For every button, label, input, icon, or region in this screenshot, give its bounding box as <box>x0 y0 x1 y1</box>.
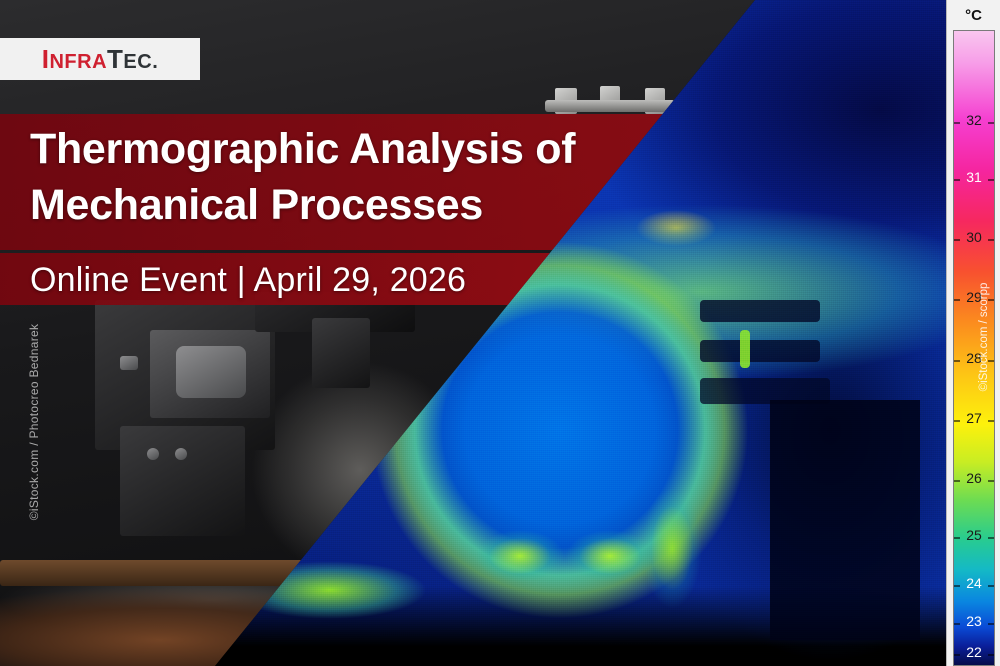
photo-bolt <box>175 448 187 460</box>
thermal-coil-band <box>700 300 820 322</box>
logo-ec: EC. <box>123 51 158 73</box>
photo-cover-plate <box>176 346 246 398</box>
tick-label: 30 <box>954 229 994 245</box>
thermal-cold-mass <box>770 400 920 640</box>
scale-bar-wrap: 3231302928272625242322 ©iStock.com / sco… <box>953 30 995 666</box>
tick-label: 26 <box>954 470 994 486</box>
tick-label: 25 <box>954 527 994 543</box>
tick-label: 27 <box>954 410 994 426</box>
photo-connector <box>120 356 138 370</box>
tick-label: 29 <box>954 289 994 305</box>
thermal-coil-band <box>700 340 820 362</box>
scale-unit-label: °C <box>947 0 1000 30</box>
photo-bolt <box>147 448 159 460</box>
logo-wordmark: INFRATEC. <box>42 46 159 72</box>
thermal-hot-stripe <box>740 330 750 368</box>
photo-rail <box>545 100 675 112</box>
temperature-scale: °C 3231302928272625242322 ©iStock.com / … <box>946 0 1000 666</box>
tick-label: 24 <box>954 575 994 591</box>
infratec-logo[interactable]: INFRATEC. <box>0 38 200 80</box>
event-banner: Thermographic Analysis of Mechanical Pro… <box>0 0 1000 666</box>
logo-t: T <box>107 44 123 74</box>
tick-label: 31 <box>954 169 994 185</box>
photo-mount-plate <box>120 426 245 536</box>
tick-label: 22 <box>954 644 994 660</box>
tick-label: 28 <box>954 350 994 366</box>
tick-label: 32 <box>954 112 994 128</box>
logo-nfra: NFRA <box>49 51 107 73</box>
tick-label: 23 <box>954 613 994 629</box>
photo-block <box>312 318 370 388</box>
